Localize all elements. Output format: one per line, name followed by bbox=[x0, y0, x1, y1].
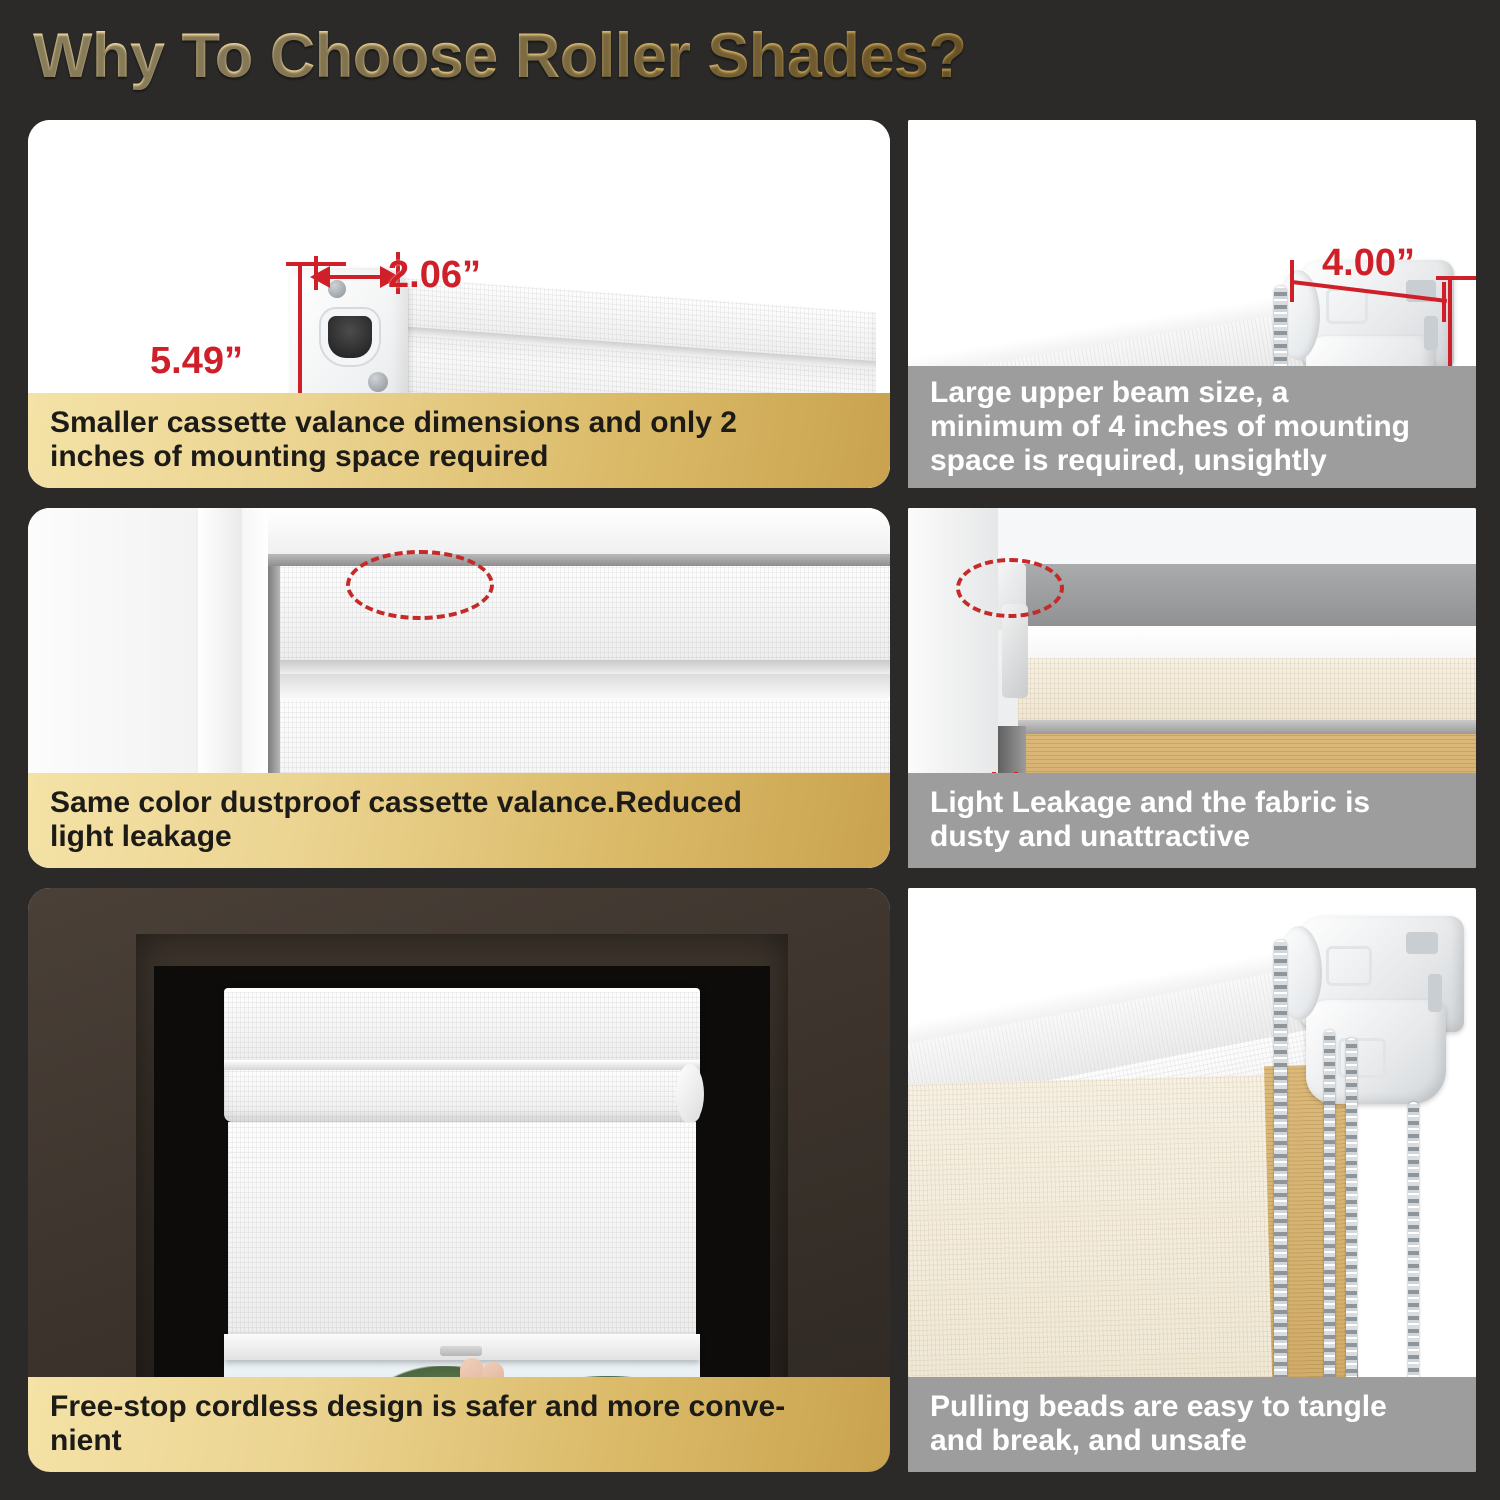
cassette-valance-groove bbox=[268, 660, 890, 674]
highlight-ellipse bbox=[346, 550, 494, 620]
caption-line: dusty and unattractive bbox=[930, 820, 1456, 854]
cassette-valance-head bbox=[224, 988, 700, 1068]
caption-line: Pulling beads are easy to tangle bbox=[930, 1390, 1456, 1424]
panel-large-upper-beam: 4.00” 4.00” Large upper beam size, a min… bbox=[908, 120, 1476, 488]
panel-dustproof-cassette-valance: smaller gap Same color dustproof cassett… bbox=[28, 508, 890, 868]
panel-3-caption: Same color dustproof cassette valance.Re… bbox=[28, 773, 890, 868]
page-title: Why To Choose Roller Shades? bbox=[33, 20, 966, 92]
width-arrow-left bbox=[310, 266, 330, 288]
bracket-slot-mid bbox=[1424, 316, 1438, 350]
caption-line: Large upper beam size, a bbox=[930, 376, 1456, 410]
panel-4-caption: Light Leakage and the fabric is dusty an… bbox=[908, 773, 1476, 868]
infographic-root: Why To Choose Roller Shades? 2.06” bbox=[0, 0, 1500, 1500]
panel-light-leakage-dusty-fabric: Large gap Light Leakage and the fabric i… bbox=[908, 508, 1476, 868]
panel-2-caption: Large upper beam size, a minimum of 4 in… bbox=[908, 366, 1476, 488]
beam-width-label: 4.00” bbox=[1322, 242, 1415, 285]
caption-line: light leakage bbox=[50, 820, 870, 854]
bracket-emboss-upper bbox=[1326, 288, 1368, 324]
end-cap-clutch-hole bbox=[328, 316, 372, 358]
highlight-ellipse bbox=[956, 558, 1064, 618]
height-tick-top bbox=[286, 262, 346, 266]
height-dimension-label: 5.49” bbox=[150, 340, 243, 383]
beam-width-tick-left bbox=[1290, 260, 1294, 302]
mounting-bracket-small bbox=[1002, 604, 1028, 698]
roller-tube-under bbox=[272, 674, 890, 700]
caption-line: minimum of 4 inches of mounting bbox=[930, 410, 1456, 444]
window-head-jamb bbox=[268, 508, 890, 554]
caption-line: inches of mounting space required bbox=[50, 440, 870, 474]
caption-line: and break, and unsafe bbox=[930, 1424, 1456, 1458]
valance-end-round-right bbox=[676, 1064, 704, 1124]
shade-fabric-main bbox=[228, 1122, 696, 1338]
bracket-emboss-upper bbox=[1326, 946, 1372, 986]
shade-fabric-beige-face bbox=[1018, 658, 1476, 724]
panel-6-caption: Pulling beads are easy to tangle and bre… bbox=[908, 1377, 1476, 1472]
bracket-slot-top bbox=[1406, 932, 1438, 954]
beam-width-tick-right bbox=[1442, 282, 1446, 322]
caption-line: Light Leakage and the fabric is bbox=[930, 786, 1456, 820]
end-cap-screw-upper bbox=[328, 280, 346, 298]
bracket-slot-right bbox=[1428, 974, 1442, 1012]
valance-slot-line bbox=[224, 1060, 700, 1070]
beam-height-tick-top bbox=[1436, 276, 1476, 280]
panel-1-caption: Smaller cassette valance dimensions and … bbox=[28, 393, 890, 488]
caption-line: Same color dustproof cassette valance.Re… bbox=[50, 786, 870, 820]
panel-5-caption: Free-stop cordless design is safer and m… bbox=[28, 1377, 890, 1472]
exposed-roller-tube bbox=[1016, 564, 1476, 630]
caption-line: Free-stop cordless design is safer and m… bbox=[50, 1390, 870, 1424]
fabric-bottom-rail bbox=[1018, 720, 1476, 734]
panel-free-stop-cordless-design: Free-stop cordless design is safer and m… bbox=[28, 888, 890, 1472]
width-dimension-label: 2.06” bbox=[388, 254, 481, 297]
panel-pulling-beads-tangle: Pulling beads are easy to tangle and bre… bbox=[908, 888, 1476, 1472]
caption-line: space is required, unsightly bbox=[930, 444, 1456, 478]
panel-cassette-valance-dimensions: 2.06” 5.49” Smaller cassette valance dim… bbox=[28, 120, 890, 488]
caption-line: Smaller cassette valance dimensions and … bbox=[50, 406, 870, 440]
caption-line: nient bbox=[50, 1424, 870, 1458]
valance-lower-lip bbox=[224, 1070, 700, 1122]
end-cap-screw-lower bbox=[368, 372, 388, 392]
